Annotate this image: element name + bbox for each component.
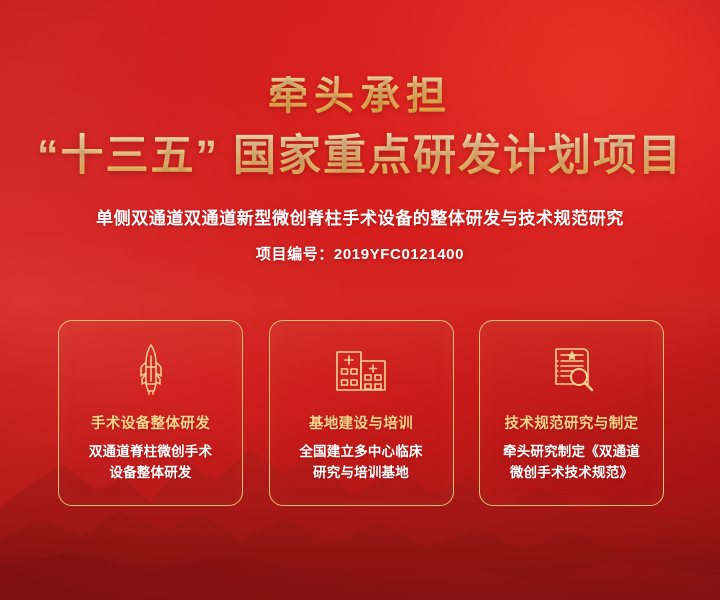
card-description-line-1: 双通道脊柱微创手术 xyxy=(89,444,212,459)
document-magnifier-icon xyxy=(547,343,597,395)
title-line-2: “十三五” 国家重点研发计划项目 xyxy=(0,132,720,180)
poster-header: 牵头承担 “十三五” 国家重点研发计划项目 单侧双通道双通道新型微创脊柱手术设备… xyxy=(0,0,720,264)
card-title: 技术规范研究与制定 xyxy=(504,412,638,433)
project-number: 项目编号：2019YFC0121400 xyxy=(0,243,720,264)
card-description: 全国建立多中心临床 研究与培训基地 xyxy=(291,442,430,484)
card-description-line-2: 研究与培训基地 xyxy=(313,465,409,480)
feature-card-list: 手术设备整体研发 双通道脊柱微创手术 设备整体研发 xyxy=(58,320,664,506)
card-title: 手术设备整体研发 xyxy=(91,412,210,433)
feature-card-base-training[interactable]: 基地建设与培训 全国建立多中心临床 研究与培训基地 xyxy=(269,320,454,506)
card-description-line-2: 设备整体研发 xyxy=(109,465,191,480)
card-description: 双通道脊柱微创手术 设备整体研发 xyxy=(81,442,220,484)
card-description: 牵头研究制定《双通道 微创手术技术规范》 xyxy=(495,442,648,484)
card-description-line-2: 微创手术技术规范》 xyxy=(510,465,633,480)
project-subtitle: 单侧双通道双通道新型微创脊柱手术设备的整体研发与技术规范研究 xyxy=(0,204,720,229)
card-title: 基地建设与培训 xyxy=(309,412,413,433)
title-line-1: 牵头承担 xyxy=(0,76,720,116)
poster-banner: 牵头承担 “十三五” 国家重点研发计划项目 单侧双通道双通道新型微创脊柱手术设备… xyxy=(0,0,720,600)
feature-card-tech-standard[interactable]: 技术规范研究与制定 牵头研究制定《双通道 微创手术技术规范》 xyxy=(479,320,664,506)
card-description-line-1: 牵头研究制定《双通道 xyxy=(503,444,640,459)
card-description-line-1: 全国建立多中心临床 xyxy=(299,444,422,459)
hospital-building-icon xyxy=(334,343,388,395)
rocket-icon xyxy=(132,343,170,395)
feature-card-equipment-rnd[interactable]: 手术设备整体研发 双通道脊柱微创手术 设备整体研发 xyxy=(58,320,243,506)
